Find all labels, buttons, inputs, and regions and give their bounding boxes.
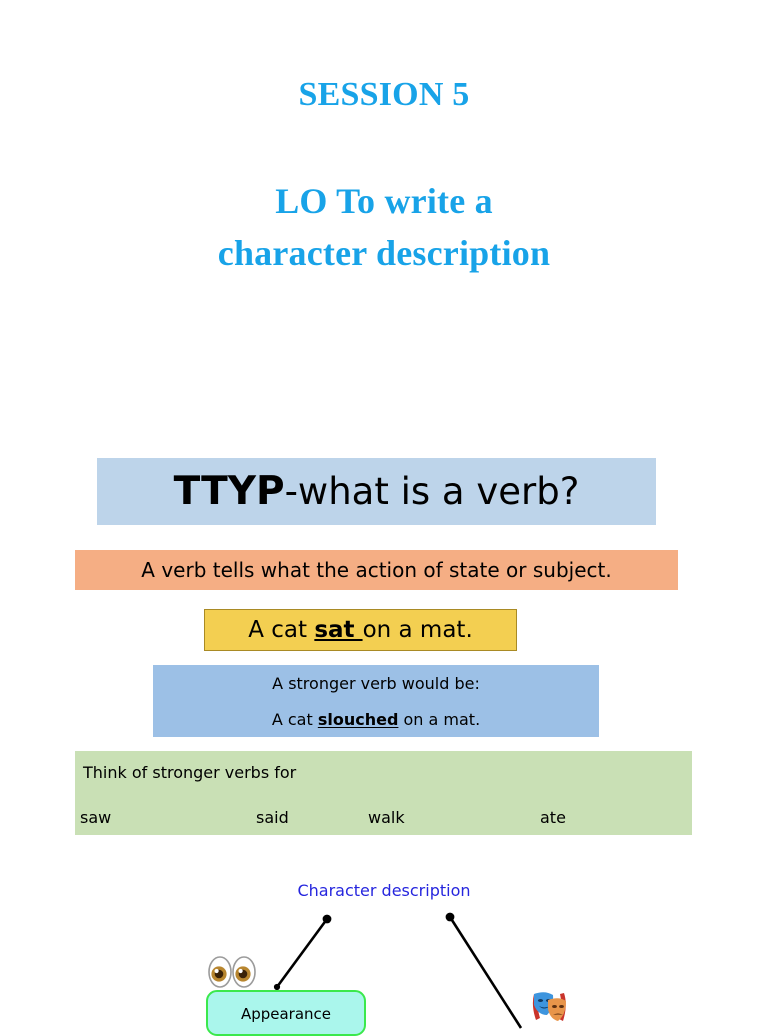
- learning-objective-line-2: character description: [0, 227, 768, 279]
- learning-objective-line-1: LO To write a: [0, 175, 768, 227]
- stronger-verb-word: slouched: [318, 710, 399, 729]
- verb-word-saw: saw: [80, 808, 111, 828]
- eyes-clipart: [204, 952, 260, 992]
- example-before: A cat: [248, 617, 314, 643]
- verb-definition-box: A verb tells what the action of state or…: [75, 550, 678, 590]
- connector-line-appearance: [277, 919, 327, 987]
- stronger-before: A cat: [272, 710, 318, 729]
- mindmap-node-appearance-label: Appearance: [241, 1005, 331, 1023]
- stronger-verb-box: A stronger verb would be: A cat slouched…: [153, 665, 599, 737]
- connector-dot-appearance-top: [323, 915, 332, 924]
- ttyp-question-remainder: -what is a verb?: [285, 470, 580, 513]
- ttyp-question-text: TTYP-what is a verb?: [174, 472, 580, 512]
- learning-objective-title: LO To write a character description: [0, 175, 768, 279]
- think-of-verbs-box: Think of stronger verbs for saw said wal…: [75, 751, 692, 835]
- example-after: on a mat.: [363, 617, 473, 643]
- connector-line-personality: [450, 917, 521, 1028]
- mindmap-connectors: [0, 860, 768, 1024]
- example-verb: sat: [314, 617, 362, 643]
- ttyp-question-box: TTYP-what is a verb?: [97, 458, 656, 525]
- verb-word-row: saw said walk ate: [75, 808, 692, 830]
- verb-word-walk: walk: [368, 808, 405, 828]
- stronger-verb-prompt: A stronger verb would be:: [272, 674, 480, 693]
- stronger-after: on a mat.: [398, 710, 480, 729]
- mindmap-node-appearance[interactable]: Appearance: [206, 990, 366, 1036]
- verb-word-ate: ate: [540, 808, 566, 828]
- stronger-verb-example: A cat slouched on a mat.: [272, 710, 480, 729]
- verb-word-said: said: [256, 808, 289, 828]
- think-of-verbs-prompt: Think of stronger verbs for: [83, 763, 296, 783]
- example-sentence-text: A cat sat on a mat.: [248, 617, 473, 644]
- connector-dot-personality-top: [446, 913, 455, 922]
- theater-masks-clipart: [528, 988, 570, 1026]
- slide-canvas: SESSION 5 LO To write a character descri…: [0, 0, 768, 1024]
- session-title: SESSION 5: [0, 74, 768, 116]
- example-sentence-box: A cat sat on a mat.: [204, 609, 517, 651]
- ttyp-acronym: TTYP: [174, 469, 285, 514]
- verb-definition-text: A verb tells what the action of state or…: [141, 558, 611, 582]
